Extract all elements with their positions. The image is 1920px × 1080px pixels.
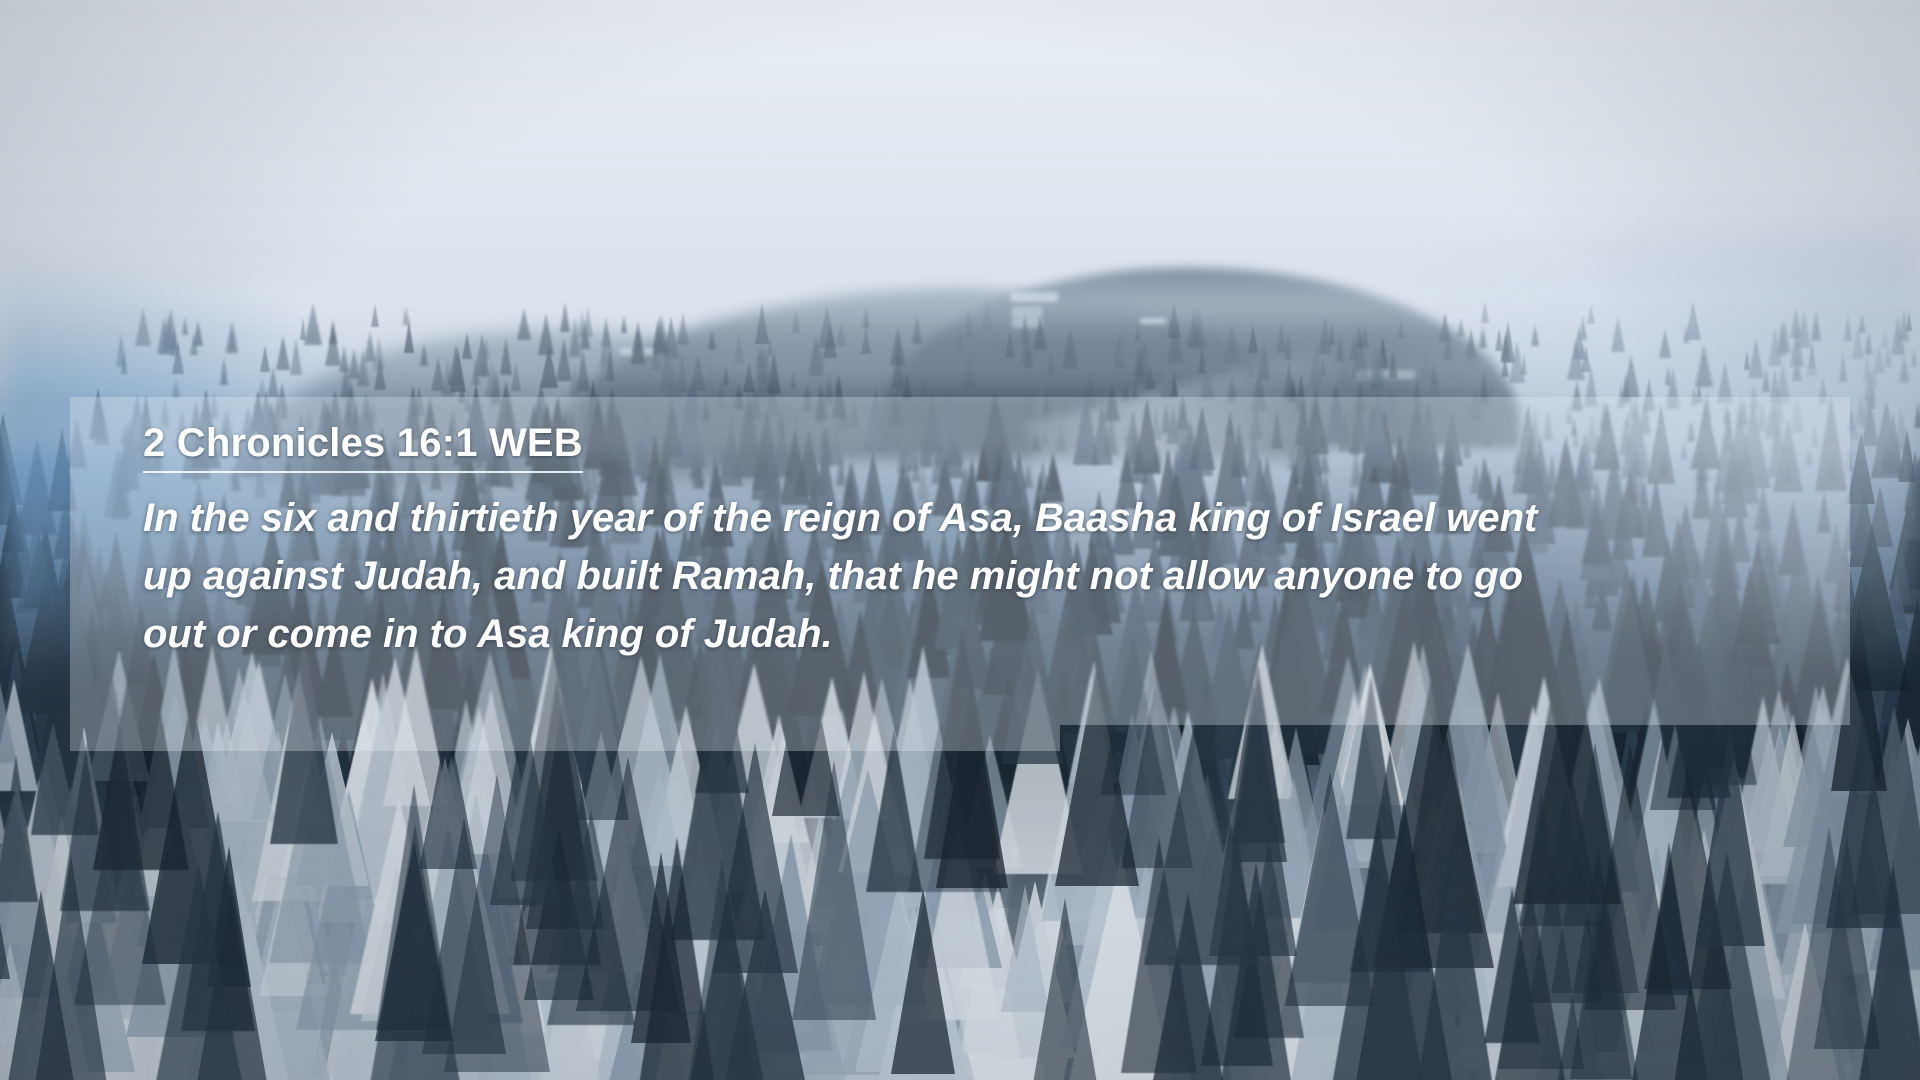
verse-image-canvas: 2 Chronicles 16:1 WEB In the six and thi… (0, 0, 1920, 1080)
verse-block: 2 Chronicles 16:1 WEB In the six and thi… (143, 420, 1843, 663)
verse-text: In the six and thirtieth year of the rei… (143, 489, 1563, 663)
text-overlay-panel-lower (70, 725, 1060, 751)
verse-reference: 2 Chronicles 16:1 WEB (143, 420, 583, 473)
